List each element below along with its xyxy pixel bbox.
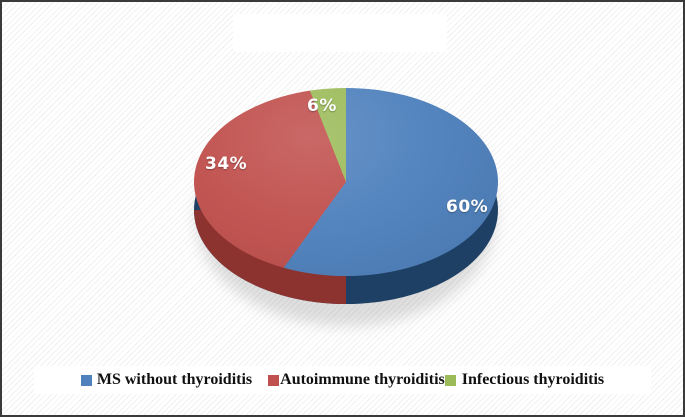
pie-chart-figure: 60% 34% 6% MS without thyroiditis Autoim… xyxy=(0,0,685,417)
pie-top-face[interactable] xyxy=(194,88,498,276)
legend-label-ms-without-thyroiditis: MS without thyroiditis xyxy=(97,372,252,388)
legend-label-autoimmune-thyroiditis: Autoimmune thyroiditis xyxy=(280,372,445,388)
legend-label-infectious-thyroiditis: Infectious thyroiditis xyxy=(462,372,604,388)
slice-label-autoimmune-thyroiditis: 34% xyxy=(205,154,247,174)
legend-swatch-icon-green xyxy=(445,375,456,386)
pie-chart: 60% 34% 6% xyxy=(188,74,504,342)
legend-swatch-icon-red xyxy=(268,375,279,386)
slice-label-ms-without-thyroiditis: 60% xyxy=(446,197,488,217)
legend-item-autoimmune-thyroiditis[interactable]: Autoimmune thyroiditis xyxy=(268,372,445,388)
slice-label-infectious-thyroiditis: 6% xyxy=(307,96,337,116)
legend-swatch-icon-blue xyxy=(81,375,92,386)
legend-item-ms-without-thyroiditis[interactable]: MS without thyroiditis xyxy=(81,372,252,388)
chart-title-box xyxy=(233,14,447,52)
legend-item-infectious-thyroiditis[interactable]: Infectious thyroiditis xyxy=(445,372,604,388)
chart-legend: MS without thyroiditis Autoimmune thyroi… xyxy=(34,366,651,394)
